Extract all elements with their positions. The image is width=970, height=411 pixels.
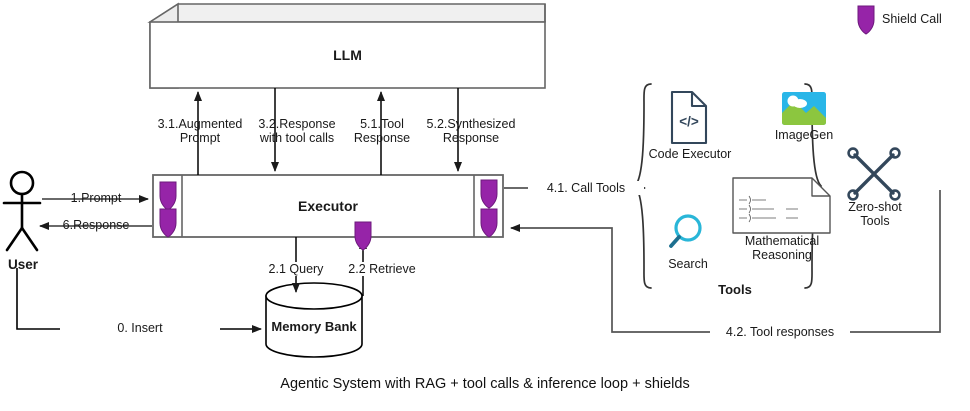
code-document-icon: </>: [672, 92, 706, 143]
edge-label-42-tool-responses: 4.2. Tool responses: [710, 325, 850, 339]
diagram-caption: Agentic System with RAG + tool calls & i…: [0, 376, 970, 392]
image-picture-icon: [782, 92, 826, 125]
node-label-executor: Executor: [182, 199, 474, 213]
tools-group-label: Tools: [700, 283, 770, 297]
tool-label-code-executor: Code Executor: [645, 147, 735, 161]
crossed-wrenches-icon: [849, 149, 900, 200]
shield-icon-legend: [858, 6, 874, 34]
edge-label-1-prompt: 1.Prompt: [48, 191, 144, 205]
edge-0-insert: [17, 268, 261, 329]
edge-label-22-retrieve: 2.2 Retrieve: [333, 262, 431, 276]
edge-label-0-insert: 0. Insert: [60, 321, 220, 335]
edge-label-52-line2: Response: [412, 131, 530, 145]
svg-text:</>: </>: [679, 114, 699, 129]
edge-label-52-line1: 5.2.Synthesized: [412, 117, 530, 131]
legend-shield-label: Shield Call: [882, 12, 970, 26]
tool-label-search: Search: [660, 257, 716, 271]
tool-label-zero-shot-tools: Zero-shot Tools: [840, 200, 910, 228]
magnifier-search-icon: [671, 216, 700, 246]
edge-label-52-synthesized-response: 5.2.Synthesized Response: [412, 117, 530, 145]
node-label-user: User: [0, 258, 46, 272]
edge-label-6-response: 6.Response: [44, 218, 148, 232]
node-label-memory-bank: Memory Bank: [266, 320, 362, 334]
node-llm[interactable]: [150, 4, 545, 88]
node-label-llm: LLM: [150, 48, 545, 62]
user-actor-icon: [4, 172, 40, 250]
math-formula-document-icon: [733, 178, 830, 233]
edge-label-21-query: 2.1 Query: [252, 262, 340, 276]
tool-label-mathematical-reasoning: Mathematical Reasoning: [735, 234, 829, 262]
shield-icon-executor-bottom-center: [355, 222, 371, 250]
tool-label-imagegen: ImageGen: [769, 128, 839, 142]
edge-label-41-call-tools: 4.1. Call Tools: [528, 181, 644, 195]
